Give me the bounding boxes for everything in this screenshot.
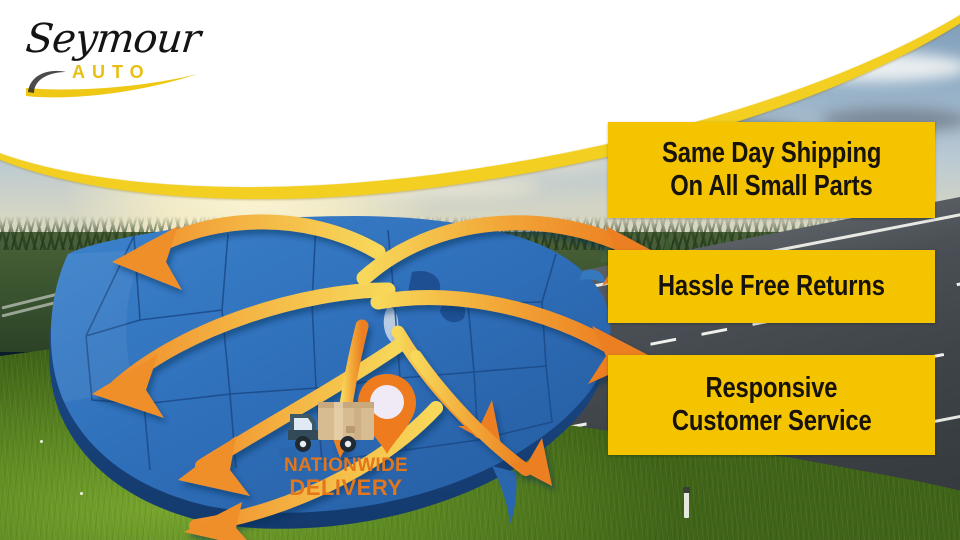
logo-script-text: Seymour [24, 16, 202, 62]
nationwide-delivery-caption: NATIONWIDE DELIVERY [271, 456, 421, 499]
callout-line: Customer Service [672, 405, 872, 438]
swoosh-underline-icon [20, 66, 210, 100]
callout-line: Responsive [706, 372, 838, 405]
us-map-graphic: NATIONWIDE DELIVERY [16, 150, 636, 530]
callout-hassle-free-returns[interactable]: Hassle Free Returns [608, 250, 935, 323]
caption-line-2: DELIVERY [271, 476, 421, 499]
callout-line: Hassle Free Returns [658, 270, 885, 303]
caption-line-1: NATIONWIDE [271, 456, 421, 476]
callout-line: On All Small Parts [670, 170, 872, 203]
brand-logo[interactable]: Seymour AUTO [20, 14, 220, 102]
callout-same-day-shipping[interactable]: Same Day Shipping On All Small Parts [608, 122, 935, 218]
callout-line: Same Day Shipping [662, 137, 881, 170]
promo-banner: Seymour AUTO [0, 0, 960, 540]
callout-responsive-customer-service[interactable]: Responsive Customer Service [608, 355, 935, 455]
delivery-truck-icon [286, 400, 381, 456]
roadside-marker-post [684, 492, 689, 518]
